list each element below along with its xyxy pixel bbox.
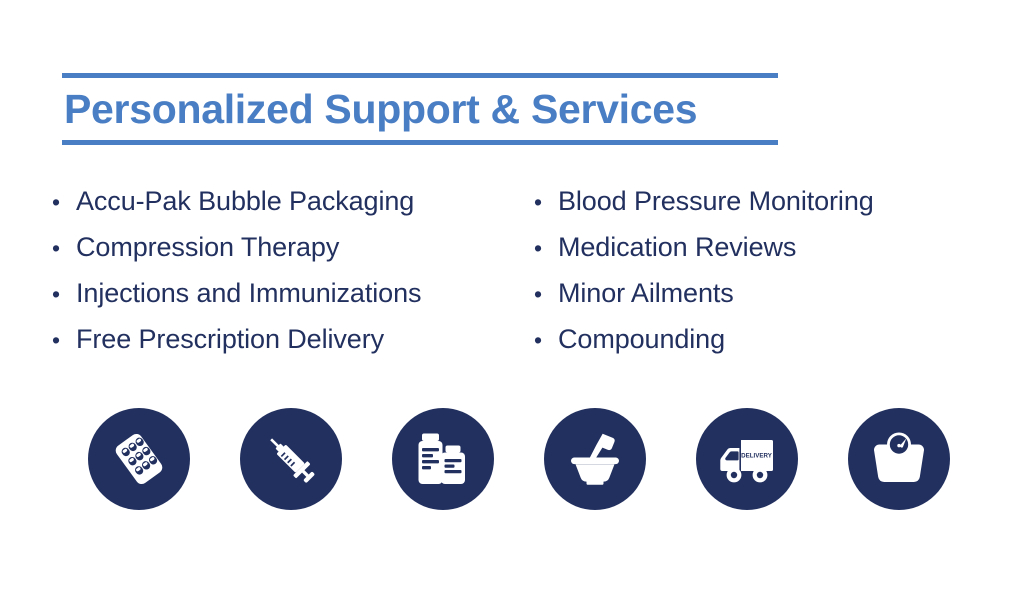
delivery-truck-icon: DELIVERY (714, 426, 780, 492)
blister-pack-icon (107, 427, 171, 491)
services-banner: Personalized Support & Services • Accu-P… (0, 0, 1025, 590)
icon-badge-blister-pack (88, 408, 190, 510)
services-list-right: • Blood Pressure Monitoring • Medication… (534, 178, 874, 362)
list-item: • Free Prescription Delivery (52, 316, 421, 362)
bullet-icon: • (534, 271, 558, 317)
bullet-icon: • (52, 225, 76, 271)
pill-bottles-icon (412, 428, 474, 490)
truck-label: DELIVERY (741, 453, 773, 460)
bullet-icon: • (52, 317, 76, 363)
icon-row: DELIVERY (0, 408, 1025, 512)
icon-badge-delivery-truck: DELIVERY (696, 408, 798, 510)
list-item-label: Minor Ailments (558, 270, 734, 316)
list-item-label: Free Prescription Delivery (76, 316, 384, 362)
list-item-label: Medication Reviews (558, 224, 796, 270)
mortar-pestle-icon (563, 427, 627, 491)
bullet-icon: • (52, 271, 76, 317)
bullet-icon: • (52, 179, 76, 225)
icon-badge-pill-bottles (392, 408, 494, 510)
list-item-label: Blood Pressure Monitoring (558, 178, 874, 224)
title-block: Personalized Support & Services (62, 73, 778, 145)
list-item: • Compression Therapy (52, 224, 421, 270)
list-item-label: Injections and Immunizations (76, 270, 421, 316)
bullet-icon: • (534, 225, 558, 271)
list-item: • Medication Reviews (534, 224, 874, 270)
list-item: • Compounding (534, 316, 874, 362)
list-item: • Accu-Pak Bubble Packaging (52, 178, 421, 224)
list-item: • Minor Ailments (534, 270, 874, 316)
list-item-label: Compounding (558, 316, 725, 362)
icon-badge-syringe (240, 408, 342, 510)
list-item: • Injections and Immunizations (52, 270, 421, 316)
bullet-icon: • (534, 179, 558, 225)
page-title: Personalized Support & Services (62, 78, 778, 140)
list-item-label: Accu-Pak Bubble Packaging (76, 178, 414, 224)
bullet-icon: • (534, 317, 558, 363)
list-item-label: Compression Therapy (76, 224, 339, 270)
weight-scale-icon (868, 428, 930, 490)
icon-badge-weight-scale (848, 408, 950, 510)
icon-badge-mortar-pestle (544, 408, 646, 510)
title-rule-bottom (62, 140, 778, 145)
services-list-left: • Accu-Pak Bubble Packaging • Compressio… (52, 178, 421, 362)
services-lists: • Accu-Pak Bubble Packaging • Compressio… (0, 178, 1025, 368)
list-item: • Blood Pressure Monitoring (534, 178, 874, 224)
syringe-icon (259, 427, 323, 491)
